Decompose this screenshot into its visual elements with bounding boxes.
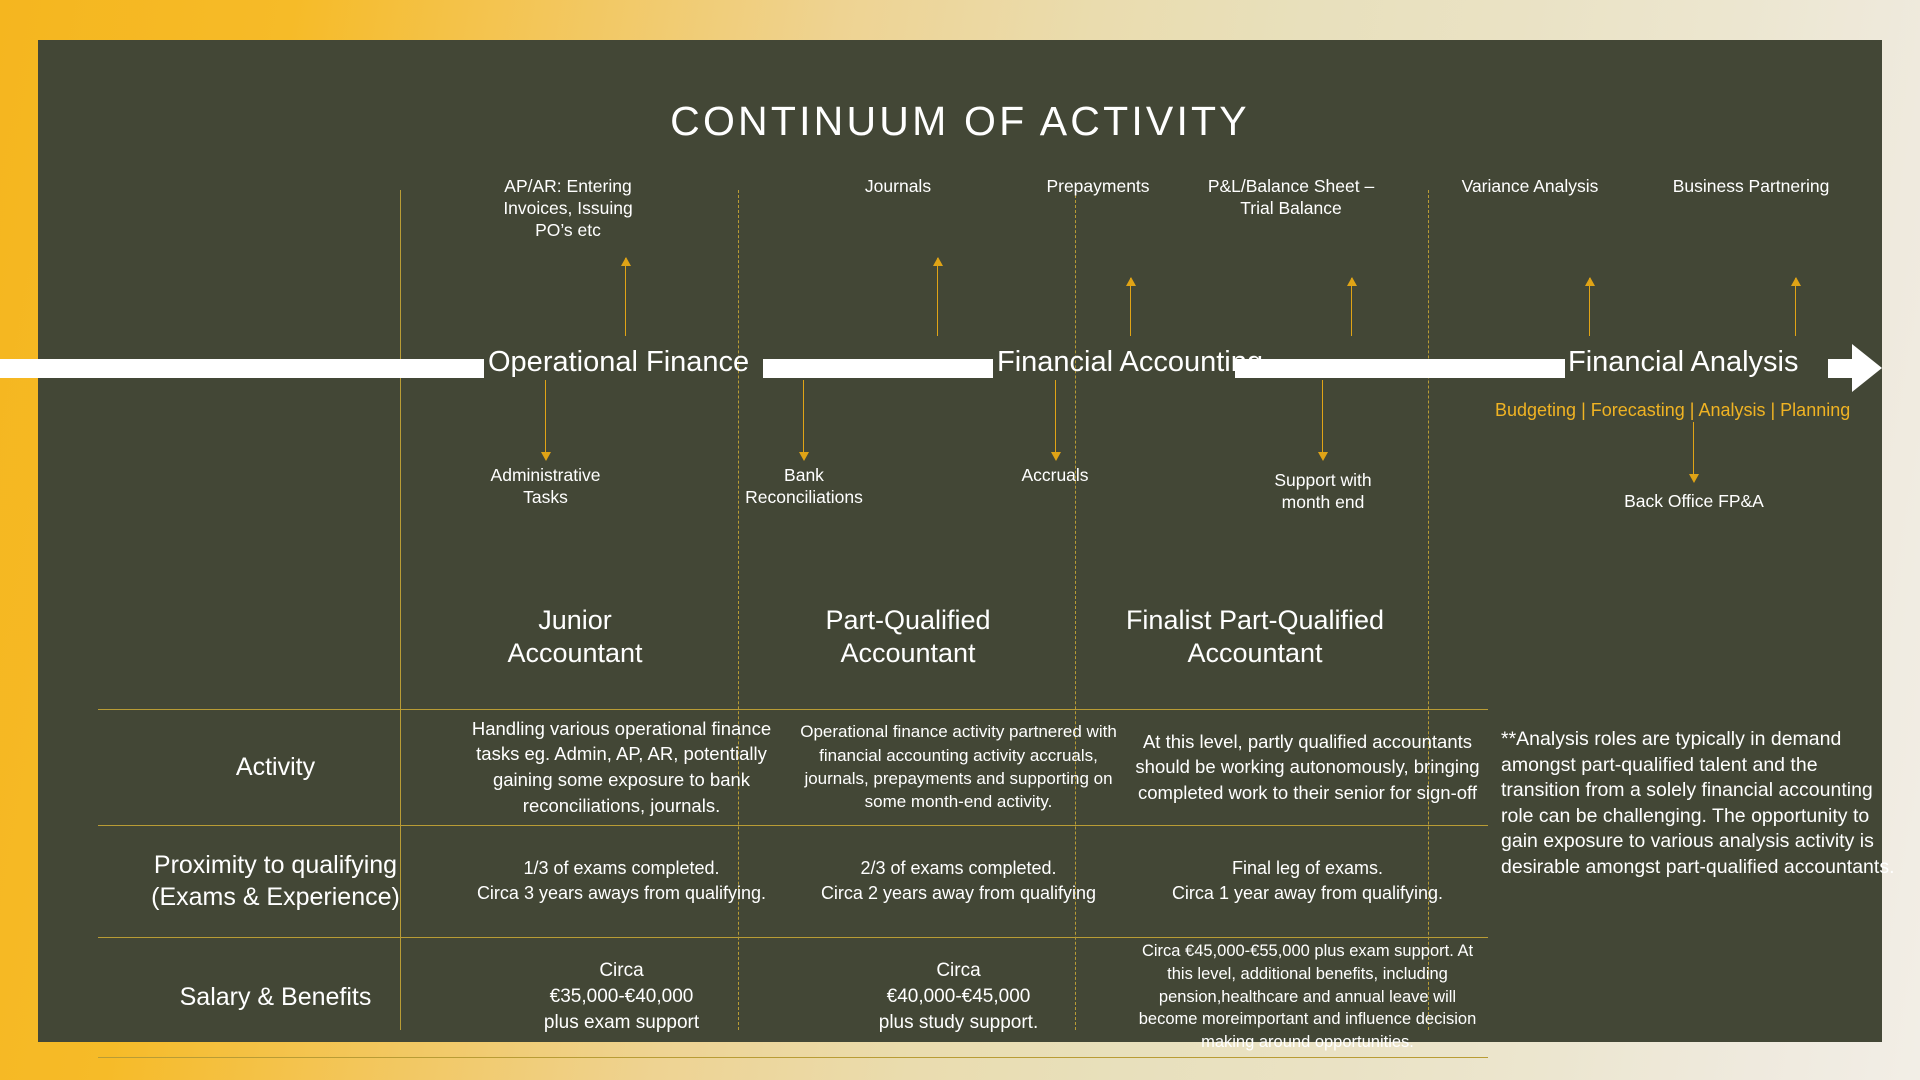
up-arrow-journals [937, 258, 938, 336]
role-title-junior-accountant: Junior Accountant [410, 604, 740, 670]
up-arrow-ap-ar [625, 258, 626, 336]
row-label-proximity-to-qualifying: Proximity to qualifying (Exams & Experie… [98, 825, 453, 937]
up-arrow-variance-analysis [1589, 278, 1590, 336]
top-label-pl-balance-sheet: P&L/Balance Sheet – Trial Balance [1126, 175, 1456, 219]
continuum-arrowhead-icon [1852, 344, 1882, 392]
table-cell-salary-finalist: Circa €45,000-€55,000 plus exam support.… [1127, 937, 1488, 1057]
table-cell-activity-junior: Handling various operational finance tas… [453, 709, 790, 825]
bottom-label-accruals: Accruals [970, 464, 1140, 486]
up-arrow-prepayments [1130, 278, 1131, 336]
financial-analysis-subtitle: Budgeting | Forecasting | Analysis | Pla… [1495, 400, 1850, 421]
table-cell-proximity-junior: 1/3 of exams completed. Circa 3 years aw… [453, 825, 790, 937]
down-arrow-bank-reconciliations [803, 380, 804, 452]
bottom-label-bank-reconciliations: Bank Reconciliations [698, 464, 910, 508]
top-label-journals: Journals [808, 175, 988, 197]
role-title-part-qualified-accountant: Part-Qualified Accountant [743, 604, 1073, 670]
table-cell-proximity-part-qualified: 2/3 of exams completed. Circa 2 years aw… [790, 825, 1127, 937]
up-arrow-business-partnering [1795, 278, 1796, 336]
continuum-bar-segment-4 [1828, 359, 1854, 378]
table-rule-bottom [98, 1057, 1488, 1058]
up-arrow-pl-balance-sheet [1351, 278, 1352, 336]
table-cell-salary-part-qualified: Circa €40,000-€45,000 plus study support… [790, 937, 1127, 1057]
bottom-label-support-month-end: Support with month end [1218, 469, 1428, 513]
down-arrow-back-office-fpa [1693, 422, 1694, 474]
table-cell-proximity-finalist: Final leg of exams. Circa 1 year away fr… [1127, 825, 1488, 937]
analysis-roles-note: **Analysis roles are typically in demand… [1501, 727, 1901, 880]
continuum-bar-segment-2 [763, 359, 993, 378]
table-cell-activity-finalist: At this level, partly qualified accounta… [1127, 709, 1488, 825]
top-label-business-partnering: Business Partnering [1616, 175, 1886, 197]
down-arrow-support-month-end [1322, 380, 1323, 452]
down-arrow-administrative-tasks [545, 380, 546, 452]
bottom-label-administrative-tasks: Administrative Tasks [438, 464, 653, 508]
comparison-table: Activity Handling various operational fi… [98, 709, 1488, 1057]
infographic-canvas: CONTINUUM OF ACTIVITY AP/AR: Entering In… [0, 0, 1920, 1080]
role-title-finalist-part-qualified-accountant: Finalist Part-Qualified Accountant [1080, 604, 1430, 670]
table-cell-salary-junior: Circa €35,000-€40,000 plus exam support [453, 937, 790, 1057]
top-label-ap-ar: AP/AR: Entering Invoices, Issuing PO’s e… [458, 175, 678, 241]
continuum-bar-segment-1 [0, 359, 484, 378]
continuum-bar-segment-3 [1235, 359, 1565, 378]
table-cell-activity-part-qualified: Operational finance activity partnered w… [790, 709, 1127, 825]
row-label-salary-and-benefits: Salary & Benefits [98, 937, 453, 1057]
top-label-variance-analysis: Variance Analysis [1410, 175, 1650, 197]
row-label-activity: Activity [98, 709, 453, 825]
stage-label-financial-accounting: Financial Accounting [997, 346, 1263, 379]
stage-label-financial-analysis: Financial Analysis [1568, 346, 1799, 379]
bottom-label-back-office-fpa: Back Office FP&A [1583, 490, 1805, 512]
stage-label-operational-finance: Operational Finance [488, 346, 749, 379]
content-panel: CONTINUUM OF ACTIVITY AP/AR: Entering In… [38, 40, 1882, 1042]
down-arrow-accruals [1055, 380, 1056, 452]
page-title: CONTINUUM OF ACTIVITY [38, 98, 1882, 145]
